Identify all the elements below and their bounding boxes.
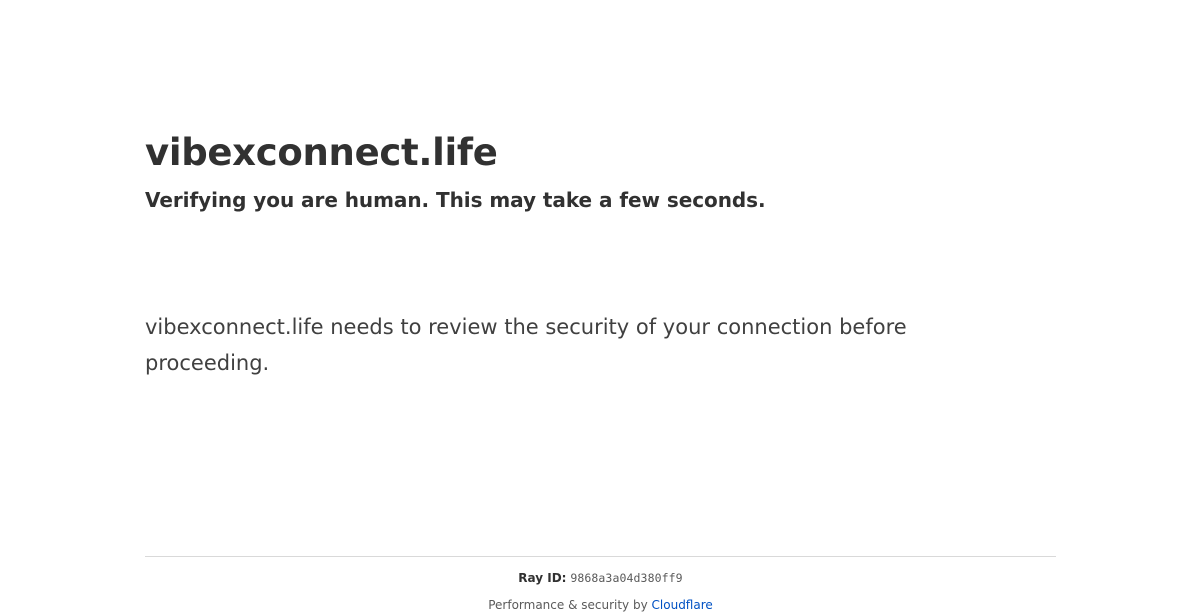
footer-inner: Ray ID: 9868a3a04d380ff9 Performance & s… [145, 557, 1056, 614]
challenge-content: vibexconnect.life Verifying you are huma… [145, 0, 1055, 381]
challenge-widget-slot[interactable] [145, 221, 1055, 309]
ray-id-value: 9868a3a04d380ff9 [570, 571, 682, 585]
challenge-page: vibexconnect.life Verifying you are huma… [0, 0, 1200, 600]
challenge-header: vibexconnect.life Verifying you are huma… [145, 0, 1055, 213]
ray-id-label: Ray ID: [518, 571, 566, 585]
page-title: vibexconnect.life [145, 131, 1055, 175]
footer: Ray ID: 9868a3a04d380ff9 Performance & s… [145, 556, 1056, 614]
challenge-body-text: vibexconnect.life needs to review the se… [145, 309, 945, 381]
footer-attribution: Performance & security by Cloudflare [145, 597, 1056, 614]
challenge-subtitle: Verifying you are human. This may take a… [145, 187, 1055, 213]
ray-id: Ray ID: 9868a3a04d380ff9 [145, 570, 1056, 587]
